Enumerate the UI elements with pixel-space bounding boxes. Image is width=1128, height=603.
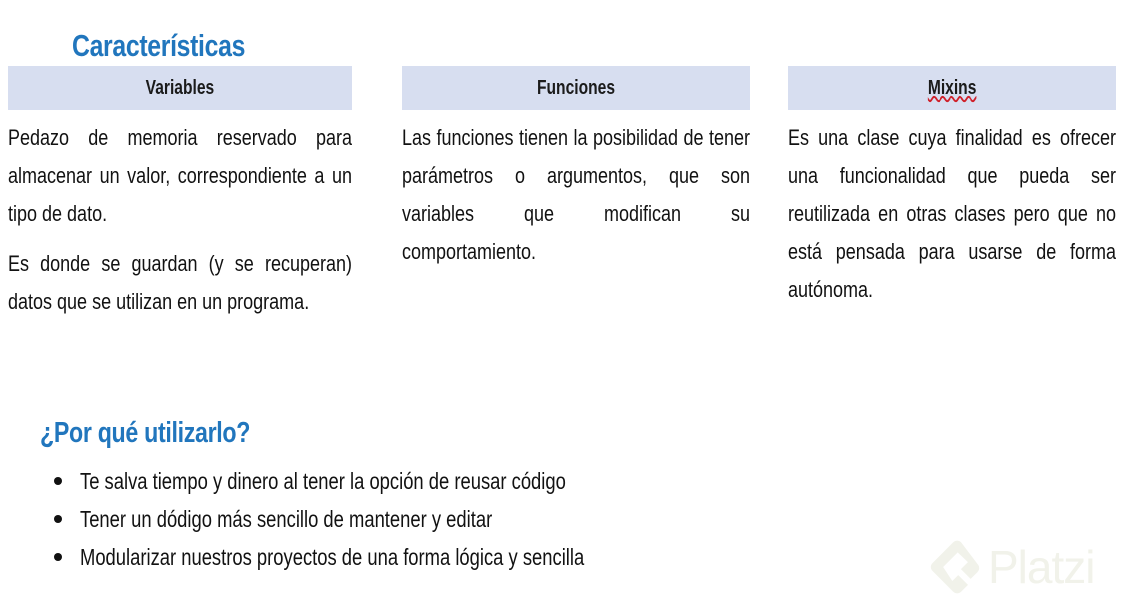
bullet-icon <box>54 515 62 523</box>
feature-column-funciones: Funciones Las funciones tienen la posibi… <box>402 66 750 271</box>
feature-column-body: Es una clase cuya finalidad es ofrecer u… <box>788 110 1116 309</box>
feature-column-mixins: Mixins Es una clase cuya finalidad es of… <box>788 66 1116 309</box>
feature-column-title: Mixins <box>928 77 977 100</box>
feature-column-header: Variables <box>8 66 352 110</box>
benefits-list: Te salva tiempo y dinero al tener la opc… <box>44 462 1044 576</box>
feature-paragraph: Las funciones tienen la posibilidad de t… <box>402 119 750 271</box>
feature-column-body: Las funciones tienen la posibilidad de t… <box>402 110 750 271</box>
feature-column-body: Pedazo de memoria reservado para almacen… <box>8 110 352 321</box>
list-item-label: Modularizar nuestros proyectos de una fo… <box>80 538 584 576</box>
platzi-watermark: Platzi <box>928 536 1124 598</box>
list-item: Tener un dódigo más sencillo de mantener… <box>44 500 1044 538</box>
feature-column-header: Mixins <box>788 66 1116 110</box>
feature-paragraph: Es donde se guardan (y se recuperan) dat… <box>8 245 352 321</box>
feature-column-title: Funciones <box>537 77 615 100</box>
page-title-caracteristicas: Características <box>72 30 245 61</box>
feature-column-header: Funciones <box>402 66 750 110</box>
list-item-label: Te salva tiempo y dinero al tener la opc… <box>80 462 566 500</box>
platzi-wordmark: Platzi <box>988 544 1094 590</box>
feature-paragraph: Es una clase cuya finalidad es ofrecer u… <box>788 119 1116 309</box>
bullet-icon <box>54 553 62 561</box>
page-subtitle-porque-utilizarlo: ¿Por qué utilizarlo? <box>40 419 250 448</box>
feature-paragraph: Pedazo de memoria reservado para almacen… <box>8 119 352 233</box>
feature-column-title: Variables <box>146 77 215 100</box>
list-item: Te salva tiempo y dinero al tener la opc… <box>44 462 1044 500</box>
feature-column-variables: Variables Pedazo de memoria reservado pa… <box>8 66 352 321</box>
platzi-diamond-icon <box>928 540 982 594</box>
list-item-label: Tener un dódigo más sencillo de mantener… <box>80 500 492 538</box>
list-item: Modularizar nuestros proyectos de una fo… <box>44 538 1044 576</box>
feature-columns: Variables Pedazo de memoria reservado pa… <box>0 66 1128 366</box>
bullet-icon <box>54 477 62 485</box>
